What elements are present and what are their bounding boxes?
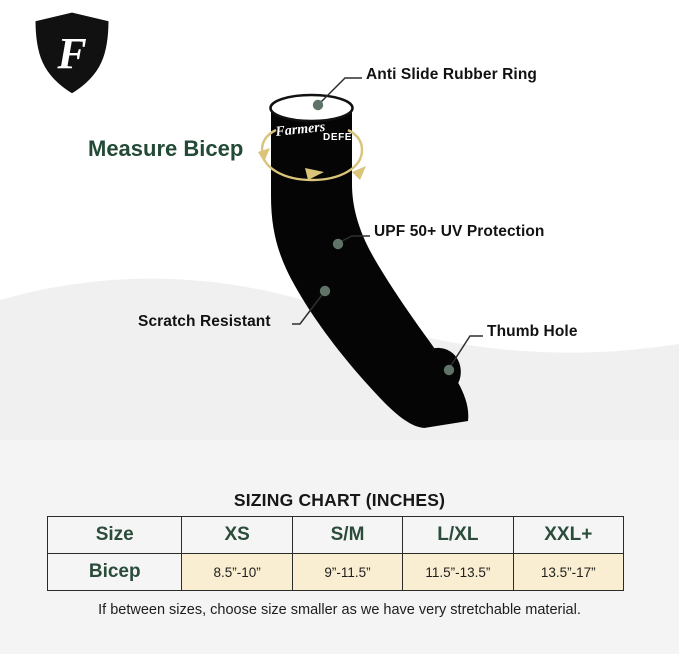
table-header-sm: S/M (292, 517, 402, 554)
table-cell-bicep-sm: 9”-11.5” (292, 554, 402, 591)
sizing-chart-section: SIZING CHART (INCHES) Size XS S/M L/XL X… (0, 470, 679, 654)
hero-bottom-band (0, 440, 679, 470)
dot-upf (333, 239, 343, 249)
thumb-hole-bulge (416, 348, 461, 395)
product-illustration-area: Farmers DEFENSE (0, 0, 679, 470)
sleeve-brand-block: DEFENSE (323, 132, 374, 143)
dot-thumb-hole (444, 365, 454, 375)
table-header-row: Size XS S/M L/XL XXL+ (48, 517, 624, 554)
cuff-opening (271, 95, 353, 121)
table-row: Bicep 8.5”-10” 9”-11.5” 11.5”-13.5” 13.5… (48, 554, 624, 591)
annotation-label-thumb-hole: Thumb Hole (487, 323, 578, 341)
table-cell-bicep-xxl: 13.5”-17” (513, 554, 623, 591)
sizing-chart-table: Size XS S/M L/XL XXL+ Bicep 8.5”-10” 9”-… (47, 516, 624, 591)
table-cell-bicep-lxl: 11.5”-13.5” (403, 554, 513, 591)
table-header-lxl: L/XL (403, 517, 513, 554)
annotation-label-anti-slide-rubber-ring: Anti Slide Rubber Ring (366, 66, 537, 84)
table-cell-bicep-xs: 8.5”-10” (182, 554, 292, 591)
sizing-chart-title: SIZING CHART (INCHES) (0, 490, 679, 511)
shield-logo-icon: F (28, 8, 116, 98)
table-header-size: Size (48, 517, 182, 554)
dot-anti-slide-ring (313, 100, 323, 110)
sizing-chart-note: If between sizes, choose size smaller as… (0, 602, 679, 618)
shield-logo-letter: F (56, 29, 86, 78)
measure-bicep-label: Measure Bicep (88, 136, 243, 162)
table-header-xxl: XXL+ (513, 517, 623, 554)
infographic-page: Farmers DEFENSE (0, 0, 679, 654)
dot-scratch-resistant (320, 286, 330, 296)
annotation-label-scratch-resistant: Scratch Resistant (138, 313, 271, 331)
table-header-xs: XS (182, 517, 292, 554)
annotation-label-upf-protection: UPF 50+ UV Protection (374, 223, 545, 241)
table-row-label-bicep: Bicep (48, 554, 182, 591)
